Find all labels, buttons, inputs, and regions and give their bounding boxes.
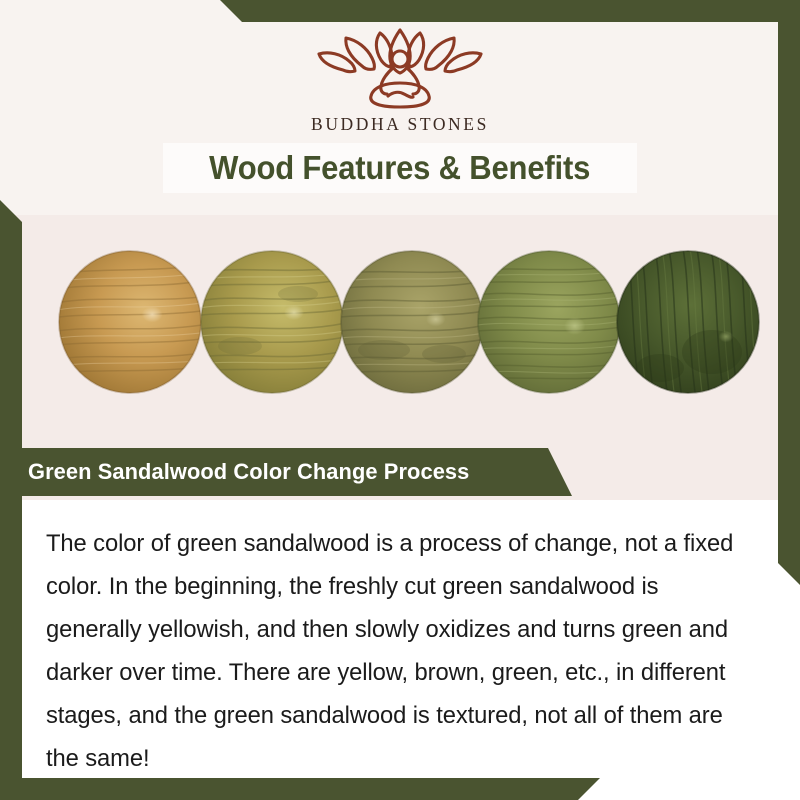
body-paragraph: The color of green sandalwood is a proce…: [46, 522, 741, 780]
bead-stage-3: [340, 250, 484, 394]
brand-name: BUDDHA STONES: [290, 114, 510, 135]
bead-stage-1: [58, 250, 202, 394]
infographic-page: BUDDHA STONES Wood Features & Benefits: [0, 0, 800, 800]
brand-logo: BUDDHA STONES: [290, 26, 510, 135]
bead-stage-2: [200, 250, 344, 394]
bead-stage-4: [477, 250, 621, 394]
page-title: Wood Features & Benefits: [209, 149, 590, 187]
lotus-meditation-figure-icon: [315, 26, 485, 110]
bead-stage-5: [616, 250, 760, 394]
page-title-band: Wood Features & Benefits: [163, 143, 637, 193]
section-banner: Green Sandalwood Color Change Process: [0, 448, 575, 496]
section-banner-title: Green Sandalwood Color Change Process: [28, 448, 469, 496]
body-content: The color of green sandalwood is a proce…: [46, 522, 762, 780]
bead-gallery: [0, 250, 800, 410]
